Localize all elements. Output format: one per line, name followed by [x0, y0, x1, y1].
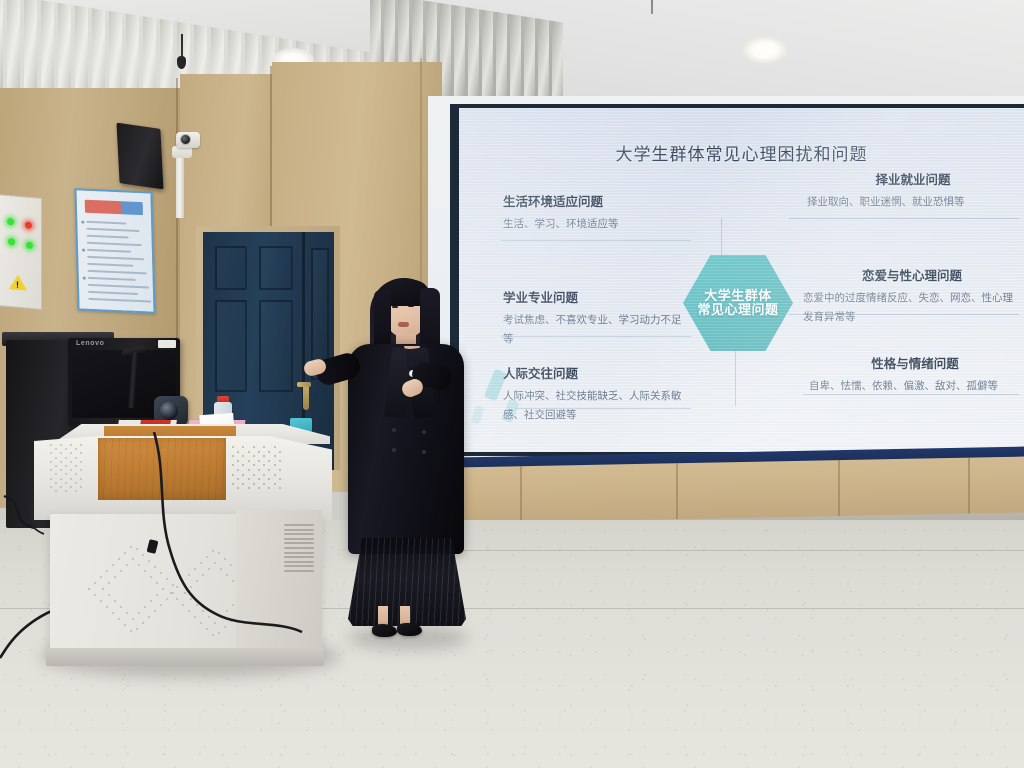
poster-text-line: [86, 221, 126, 225]
vent-slot: [284, 561, 314, 563]
perforation-dot: [202, 574, 204, 576]
perforation-dot: [136, 628, 138, 630]
grille-hole: [242, 464, 244, 466]
connector-right-1: [789, 218, 1019, 219]
grille-hole: [263, 455, 265, 457]
center-hexagon-badge: 大学生群体 常见心理问题: [683, 255, 793, 351]
grille-hole: [237, 451, 239, 453]
node-body: 人际冲突、社交技能缺乏、人际关系敏感、社交回避等: [503, 387, 693, 424]
perforation-dot: [208, 568, 210, 570]
vent-slot: [284, 565, 314, 567]
grille-hole: [75, 448, 77, 450]
grille-hole: [258, 460, 260, 462]
perforation-dot: [160, 572, 162, 574]
status-led-green-1: [7, 218, 14, 226]
grille-hole: [50, 444, 52, 446]
perforation-dot: [220, 568, 222, 570]
perforation-dot: [194, 568, 196, 570]
grille-hole: [55, 473, 57, 475]
grille-hole: [237, 478, 239, 480]
grille-hole: [65, 457, 67, 459]
node-career-employment: 择业就业问题 择业取向、职业迷惘、就业恐惧等: [807, 172, 1019, 212]
grille-hole: [55, 448, 57, 450]
perforation-dot: [226, 574, 228, 576]
presentation-slide: 大学生群体常见心理困扰和问题 大学生群体 常见心理问题 生活环境适应问题 生: [459, 108, 1024, 452]
perforation-dot: [220, 616, 222, 618]
vent-slot: [284, 552, 314, 554]
node-body: 生活、学习、环境适应等: [503, 215, 703, 233]
perforation-dot: [166, 598, 168, 600]
lectern-speaker-grille-right: [232, 446, 286, 494]
perforation-dot: [196, 580, 198, 582]
electrical-control-panel[interactable]: [0, 194, 42, 310]
grille-hole: [242, 455, 244, 457]
vent-slot: [284, 524, 314, 526]
grille-hole: [274, 464, 276, 466]
perforation-dot: [154, 566, 156, 568]
lectern-wood-panel: [98, 438, 226, 500]
perforation-dot: [188, 574, 190, 576]
grille-hole: [50, 478, 52, 480]
node-personality-emotion: 性格与情绪问题 自卑、怯懦、依赖、偏激、敌对、孤僻等: [809, 356, 1021, 396]
perforation-dot: [208, 616, 210, 618]
grille-hole: [70, 478, 72, 480]
node-interpersonal: 人际交往问题 人际冲突、社交技能缺乏、人际关系敏感、社交回避等: [503, 366, 693, 424]
grille-hole: [55, 465, 57, 467]
grille-hole: [242, 474, 244, 476]
grille-hole: [75, 465, 77, 467]
poster-text-line: [86, 228, 139, 232]
grille-hole: [80, 461, 82, 463]
presenter-shoe-left: [372, 624, 397, 637]
poster-text-line: [88, 298, 151, 303]
perforation-dot: [120, 570, 122, 572]
projection-screen: 大学生群体常见心理困扰和问题 大学生群体 常见心理问题 生活环境适应问题 生: [459, 108, 1024, 452]
grille-hole: [70, 461, 72, 463]
perforation-dot: [184, 592, 186, 594]
grille-hole: [70, 444, 72, 446]
perforation-dot: [224, 558, 226, 560]
perforation-dot: [144, 606, 146, 608]
perforation-dot: [148, 560, 150, 562]
perforation-dot: [142, 554, 144, 556]
grille-hole: [279, 487, 281, 489]
grille-hole: [60, 444, 62, 446]
grille-hole: [268, 478, 270, 480]
node-heading: 学业专业问题: [503, 290, 691, 306]
grille-hole: [50, 452, 52, 454]
grille-hole: [232, 464, 234, 466]
poster-bullet: [82, 249, 85, 252]
monitor-sticker: [158, 340, 176, 348]
grille-hole: [258, 451, 260, 453]
grille-hole: [65, 490, 67, 492]
poster-text-line: [87, 249, 131, 253]
vent-slot: [284, 529, 314, 531]
grille-hole: [75, 490, 77, 492]
node-body: 考试焦虑、不喜欢专业、学习动力不足等: [503, 311, 691, 348]
grille-hole: [253, 455, 255, 457]
perforation-dot: [218, 552, 220, 554]
grille-hole: [248, 469, 250, 471]
perforation-dot: [138, 612, 140, 614]
panel-seam: [838, 460, 840, 522]
status-led-green-3: [26, 242, 33, 250]
perforation-dot: [130, 630, 132, 632]
perforation-dot: [170, 592, 172, 594]
grille-hole: [248, 487, 250, 489]
perforation-dot: [232, 580, 234, 582]
perforation-dot: [182, 580, 184, 582]
lecture-hall-scene: 大学生群体常见心理困扰和问题 大学生群体 常见心理问题 生活环境适应问题 生: [0, 0, 1024, 768]
grille-hole: [268, 487, 270, 489]
panel-seam: [968, 458, 970, 520]
monitor-brand-label: Lenovo: [76, 340, 105, 347]
poster-text-line: [87, 256, 144, 260]
perforation-dot: [202, 610, 204, 612]
wall-notice-poster: [74, 188, 155, 314]
poster-bullet: [81, 221, 84, 224]
perforation-dot: [144, 570, 146, 572]
grille-hole: [232, 446, 234, 448]
grille-hole: [248, 460, 250, 462]
grille-hole: [268, 451, 270, 453]
grille-hole: [70, 469, 72, 471]
lectern-speaker-grille-left: [50, 444, 86, 496]
grille-hole: [75, 473, 77, 475]
grille-hole: [60, 461, 62, 463]
grille-hole: [80, 469, 82, 471]
poster-text-line: [87, 235, 129, 239]
grille-hole: [279, 469, 281, 471]
vent-slot: [284, 542, 314, 544]
perforation-dot: [190, 586, 192, 588]
node-heading: 恋爱与性心理问题: [803, 268, 1021, 284]
door-panel-ml: [215, 300, 247, 392]
perforation-dot: [118, 618, 120, 620]
perforation-dot: [130, 546, 132, 548]
slide-title: 大学生群体常见心理困扰和问题: [459, 140, 1024, 165]
grille-hole: [65, 448, 67, 450]
grille-hole: [279, 451, 281, 453]
node-life-environment: 生活环境适应问题 生活、学习、环境适应等: [503, 194, 703, 234]
perforation-dot: [120, 606, 122, 608]
perforation-dot: [102, 588, 104, 590]
node-heading: 人际交往问题: [503, 366, 693, 382]
grille-hole: [274, 446, 276, 448]
lectern-side-panel: [236, 510, 322, 656]
grille-hole: [65, 473, 67, 475]
perforation-dot: [172, 584, 174, 586]
node-body: 恋爱中的过度情绪反应、失恋、网恋、性心理发育异常等: [803, 289, 1021, 326]
grille-hole: [80, 486, 82, 488]
perforation-dot: [108, 594, 110, 596]
perforation-dot: [118, 558, 120, 560]
node-heading: 择业就业问题: [807, 172, 1019, 188]
grille-hole: [237, 469, 239, 471]
camera-lens-icon: [180, 134, 191, 145]
lectern-plinth: [46, 648, 324, 666]
perforation-dot: [126, 612, 128, 614]
grille-hole: [253, 464, 255, 466]
perforation-dot: [150, 576, 152, 578]
presenter-shoe-right: [397, 623, 422, 636]
perforation-dot: [166, 578, 168, 580]
wall-speaker: [116, 123, 163, 190]
grille-hole: [268, 460, 270, 462]
electrical-warning-icon: [9, 274, 27, 291]
grille-hole: [65, 482, 67, 484]
grille-hole: [268, 469, 270, 471]
perforation-dot: [112, 564, 114, 566]
grille-hole: [55, 490, 57, 492]
poster-heading-banner: [85, 200, 143, 216]
node-heading: 性格与情绪问题: [809, 356, 1021, 372]
perforation-dot: [100, 600, 102, 602]
presenter-coat-button-1: [392, 428, 396, 432]
poster-bullet: [83, 277, 86, 280]
grille-hole: [258, 487, 260, 489]
ceiling-hanging-cable-2: [651, 0, 653, 14]
grille-hole: [242, 483, 244, 485]
perforation-dot: [172, 592, 174, 594]
vent-slot: [284, 538, 314, 540]
perforation-dot: [114, 576, 116, 578]
perforation-dot: [156, 594, 158, 596]
door-handle[interactable]: [303, 384, 309, 410]
grille-hole: [274, 455, 276, 457]
vent-slot: [284, 533, 314, 535]
perforation-dot: [154, 610, 156, 612]
perforation-dot: [114, 600, 116, 602]
grille-hole: [279, 478, 281, 480]
grille-hole: [60, 452, 62, 454]
perforation-dot: [100, 576, 102, 578]
perforation-dot: [148, 616, 150, 618]
hexagon-line-2: 常见心理问题: [697, 303, 778, 317]
floor-seam-2: [430, 550, 1024, 551]
perforation-dot: [150, 600, 152, 602]
perforation-dot: [132, 618, 134, 620]
perforation-dot: [138, 564, 140, 566]
node-academic-major: 学业专业问题 考试焦虑、不喜欢专业、学习动力不足等: [503, 290, 691, 348]
grille-hole: [253, 446, 255, 448]
grille-hole: [248, 478, 250, 480]
perforation-dot: [206, 556, 208, 558]
lectern-vent-slots: [284, 524, 314, 574]
grille-hole: [60, 486, 62, 488]
grille-hole: [253, 474, 255, 476]
perforation-dot: [160, 604, 162, 606]
perforation-dot: [190, 598, 192, 600]
node-body: 择业取向、职业迷惘、就业恐惧等: [807, 193, 1019, 211]
grille-hole: [80, 444, 82, 446]
poster-text-line: [88, 270, 147, 275]
grille-hole: [279, 460, 281, 462]
connector-hex-down: [735, 348, 736, 406]
perforation-dot: [212, 634, 214, 636]
poster-text-line: [87, 263, 133, 267]
perforation-dot: [214, 562, 216, 564]
poster-text-line: [88, 284, 149, 289]
presenter-mouth: [398, 322, 409, 327]
perforation-dot: [214, 622, 216, 624]
door-panel-tl: [215, 246, 247, 290]
perforation-dot: [176, 586, 178, 588]
perforation-dot: [200, 622, 202, 624]
hexagon-line-1: 大学生群体: [704, 289, 772, 303]
presenter: [330, 276, 480, 648]
node-body: 自卑、怯懦、依赖、偏激、敌对、孤僻等: [809, 377, 1021, 395]
perforation-dot: [194, 616, 196, 618]
perforation-dot: [126, 564, 128, 566]
grille-hole: [70, 452, 72, 454]
grille-hole: [274, 483, 276, 485]
grille-hole: [237, 460, 239, 462]
grille-hole: [242, 446, 244, 448]
grille-hole: [253, 483, 255, 485]
grille-hole: [50, 469, 52, 471]
presenter-coat-button-4: [422, 450, 426, 454]
status-led-red: [25, 221, 32, 229]
grille-hole: [232, 455, 234, 457]
grille-hole: [80, 478, 82, 480]
node-love-sexuality: 恋爱与性心理问题 恋爱中的过度情绪反应、失恋、网恋、性心理发育异常等: [803, 268, 1021, 326]
perforation-dot: [108, 582, 110, 584]
perforation-dot: [88, 588, 90, 590]
grille-hole: [274, 474, 276, 476]
ceiling-downlight-2: [742, 36, 788, 64]
grille-hole: [237, 487, 239, 489]
grille-hole: [60, 478, 62, 480]
perforation-dot: [124, 552, 126, 554]
door-panel-mr: [259, 300, 293, 392]
grille-hole: [55, 482, 57, 484]
perforation-dot: [218, 632, 220, 634]
vent-slot: [284, 556, 314, 558]
perforation-dot: [232, 604, 234, 606]
poster-text-line: [88, 291, 138, 295]
ceiling-cable-knob: [177, 56, 186, 69]
presenter-coat-button-2: [392, 448, 396, 452]
panel-seam: [676, 463, 678, 525]
grille-hole: [232, 474, 234, 476]
grille-hole: [75, 482, 77, 484]
grille-hole: [55, 457, 57, 459]
vent-slot: [284, 570, 314, 572]
perforation-dot: [206, 628, 208, 630]
perforation-dot: [176, 598, 178, 600]
wood-grain-texture: [98, 438, 226, 500]
webcam-lens-icon: [160, 402, 178, 420]
perforation-dot: [200, 562, 202, 564]
perforation-dot: [156, 582, 158, 584]
grille-hole: [248, 451, 250, 453]
perforation-dot: [94, 594, 96, 596]
perforation-dot: [106, 570, 108, 572]
status-led-green-2: [8, 238, 15, 246]
perforation-dot: [188, 610, 190, 612]
perforation-dot: [196, 604, 198, 606]
perforation-dot: [112, 612, 114, 614]
panel-seam: [520, 466, 522, 528]
door-panel-tr: [259, 246, 293, 290]
grille-hole: [75, 457, 77, 459]
grille-hole: [263, 474, 265, 476]
perforation-dot: [124, 624, 126, 626]
perforation-dot: [224, 626, 226, 628]
perforation-dot: [212, 550, 214, 552]
grille-hole: [65, 465, 67, 467]
perforation-dot: [136, 548, 138, 550]
perforation-dot: [132, 558, 134, 560]
grille-hole: [70, 486, 72, 488]
connector-hex-up: [721, 218, 722, 258]
grille-hole: [263, 483, 265, 485]
poster-text-line: [87, 242, 142, 246]
grille-hole: [232, 483, 234, 485]
node-heading: 生活环境适应问题: [503, 194, 703, 210]
perforation-dot: [94, 582, 96, 584]
connector-left-1: [501, 240, 691, 241]
presenter-coat-button-3: [422, 430, 426, 434]
grille-hole: [50, 486, 52, 488]
grille-hole: [263, 446, 265, 448]
door-handle-lever[interactable]: [297, 382, 311, 387]
perforation-dot: [182, 604, 184, 606]
grille-hole: [263, 464, 265, 466]
perforation-dot: [142, 622, 144, 624]
perforation-dot: [106, 606, 108, 608]
grille-hole: [258, 478, 260, 480]
camera-mount-pipe: [176, 152, 184, 218]
grille-hole: [258, 469, 260, 471]
vent-slot: [284, 547, 314, 549]
grille-hole: [60, 469, 62, 471]
perforation-dot: [162, 588, 164, 590]
perforation-dot: [226, 610, 228, 612]
grille-hole: [50, 461, 52, 463]
grille-hole: [80, 452, 82, 454]
perforation-dot: [230, 564, 232, 566]
presenter-eye-left: [392, 306, 398, 308]
poster-text-line: [88, 277, 136, 281]
perforation-dot: [230, 620, 232, 622]
